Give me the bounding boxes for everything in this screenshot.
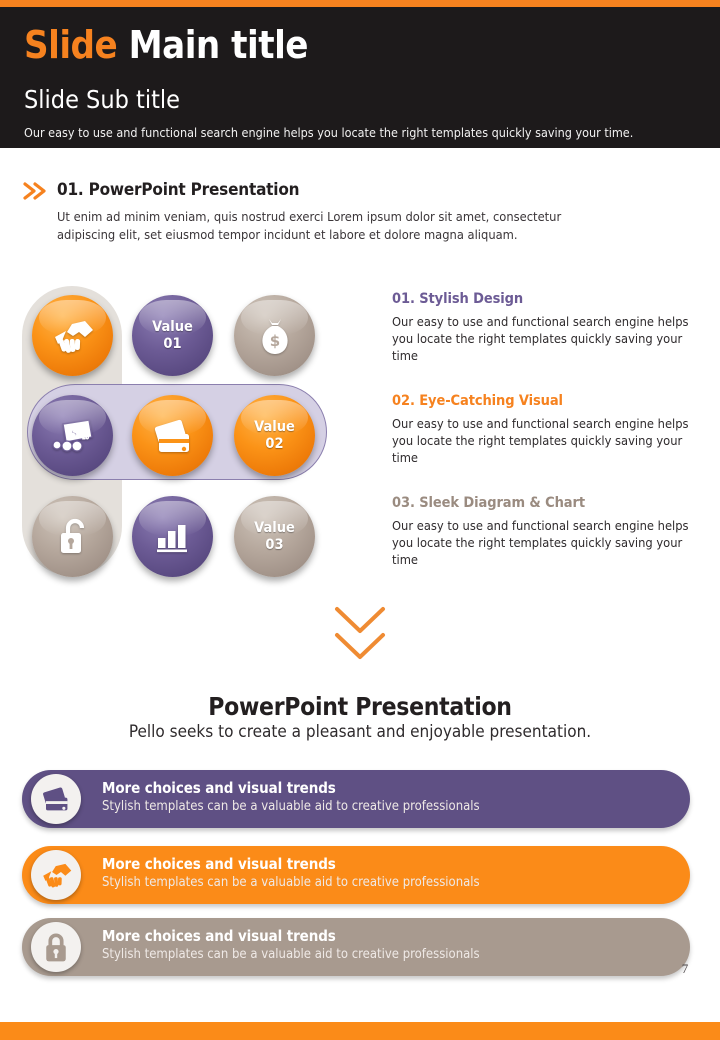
svg-text:$: $ — [269, 332, 279, 350]
feature-item-03: 03. Sleek Diagram & Chart Our easy to us… — [392, 495, 692, 569]
pill-title: More choices and visual trends — [102, 779, 480, 798]
slide-canvas: Slide Main title Slide Sub title Our eas… — [0, 0, 720, 1040]
credit-cards-icon — [35, 778, 77, 820]
feature-title: 02. Eye-Catching Visual — [392, 393, 692, 409]
cta-subtitle: Pello seeks to create a pleasant and enj… — [0, 722, 720, 742]
diagram-node-r1c1[interactable] — [32, 295, 113, 376]
page-description: Our easy to use and functional search en… — [24, 125, 633, 140]
page-title: Slide Main title — [24, 23, 308, 67]
feature-title: 03. Sleek Diagram & Chart — [392, 495, 692, 511]
node-label: Value 03 — [254, 520, 295, 553]
section-body-text: Ut enim ad minim veniam, quis nostrud ex… — [57, 209, 597, 244]
circle-matrix-diagram: Value 01 $ $ 50 — [0, 278, 360, 583]
slide-header: Slide Main title Slide Sub title Our eas… — [0, 7, 720, 148]
pill-text-block: More choices and visual trends Stylish t… — [102, 927, 480, 964]
diagram-node-r1c3[interactable]: $ — [234, 295, 315, 376]
double-chevron-down-icon — [331, 603, 389, 665]
pill-title: More choices and visual trends — [102, 855, 480, 874]
feature-title: 01. Stylish Design — [392, 291, 692, 307]
double-chevron-right-icon — [22, 180, 52, 202]
node-label-line2: 02 — [265, 436, 283, 452]
pill-bar-2[interactable]: More choices and visual trends Stylish t… — [22, 846, 690, 904]
footer-accent-bar — [0, 1022, 720, 1040]
cash-coins-icon: $ 50 20 10 1 2 — [51, 418, 95, 454]
svg-text:$: $ — [71, 429, 77, 439]
pill-subtitle: Stylish templates can be a valuable aid … — [102, 798, 480, 816]
handshake-icon — [35, 854, 77, 896]
diagram-node-r3c3[interactable]: Value 03 — [234, 496, 315, 577]
title-accent-word: Slide — [24, 23, 117, 67]
pill-text-block: More choices and visual trends Stylish t… — [102, 779, 480, 816]
svg-text:2: 2 — [75, 444, 79, 451]
diagram-node-r1c2[interactable]: Value 01 — [132, 295, 213, 376]
diagram-node-r2c3[interactable]: Value 02 — [234, 395, 315, 476]
node-label-line2: 03 — [265, 537, 283, 553]
node-label-line1: Value — [254, 419, 295, 435]
feature-body: Our easy to use and functional search en… — [392, 314, 692, 365]
diagram-node-r3c2[interactable] — [132, 496, 213, 577]
feature-item-01: 01. Stylish Design Our easy to use and f… — [392, 291, 692, 365]
node-label-line1: Value — [152, 319, 193, 335]
feature-body: Our easy to use and functional search en… — [392, 416, 692, 467]
node-label: Value 02 — [254, 419, 295, 452]
bar-chart-icon — [155, 521, 191, 553]
pill-title: More choices and visual trends — [102, 927, 480, 946]
pill-subtitle: Stylish templates can be a valuable aid … — [102, 874, 480, 892]
title-rest: Main title — [129, 23, 308, 67]
diagram-node-r2c1[interactable]: $ 50 20 10 1 2 — [32, 395, 113, 476]
top-accent-bar — [0, 0, 720, 7]
pill-badge — [31, 922, 81, 972]
credit-cards-icon — [152, 418, 194, 454]
handshake-icon — [52, 319, 94, 353]
open-lock-icon — [57, 518, 89, 556]
svg-text:1: 1 — [65, 444, 69, 451]
diagram-node-r3c1[interactable] — [32, 496, 113, 577]
node-label: Value 01 — [152, 319, 193, 352]
page-subtitle: Slide Sub title — [24, 85, 180, 115]
pill-bar-1[interactable]: More choices and visual trends Stylish t… — [22, 770, 690, 828]
cta-title: PowerPoint Presentation — [0, 692, 720, 721]
node-label-line1: Value — [254, 520, 295, 536]
pill-subtitle: Stylish templates can be a valuable aid … — [102, 946, 480, 964]
page-number: 7 — [670, 961, 700, 977]
money-bag-icon: $ — [259, 317, 291, 355]
section-heading: 01. PowerPoint Presentation — [57, 180, 299, 200]
diagram-node-r2c2[interactable] — [132, 395, 213, 476]
pill-badge — [31, 774, 81, 824]
pill-text-block: More choices and visual trends Stylish t… — [102, 855, 480, 892]
feature-body: Our easy to use and functional search en… — [392, 518, 692, 569]
svg-text:10: 10 — [82, 435, 89, 441]
closed-lock-icon — [35, 926, 77, 968]
node-label-line2: 01 — [163, 336, 181, 352]
pill-badge — [31, 850, 81, 900]
pill-bar-3[interactable]: More choices and visual trends Stylish t… — [22, 918, 690, 976]
feature-item-02: 02. Eye-Catching Visual Our easy to use … — [392, 393, 692, 467]
